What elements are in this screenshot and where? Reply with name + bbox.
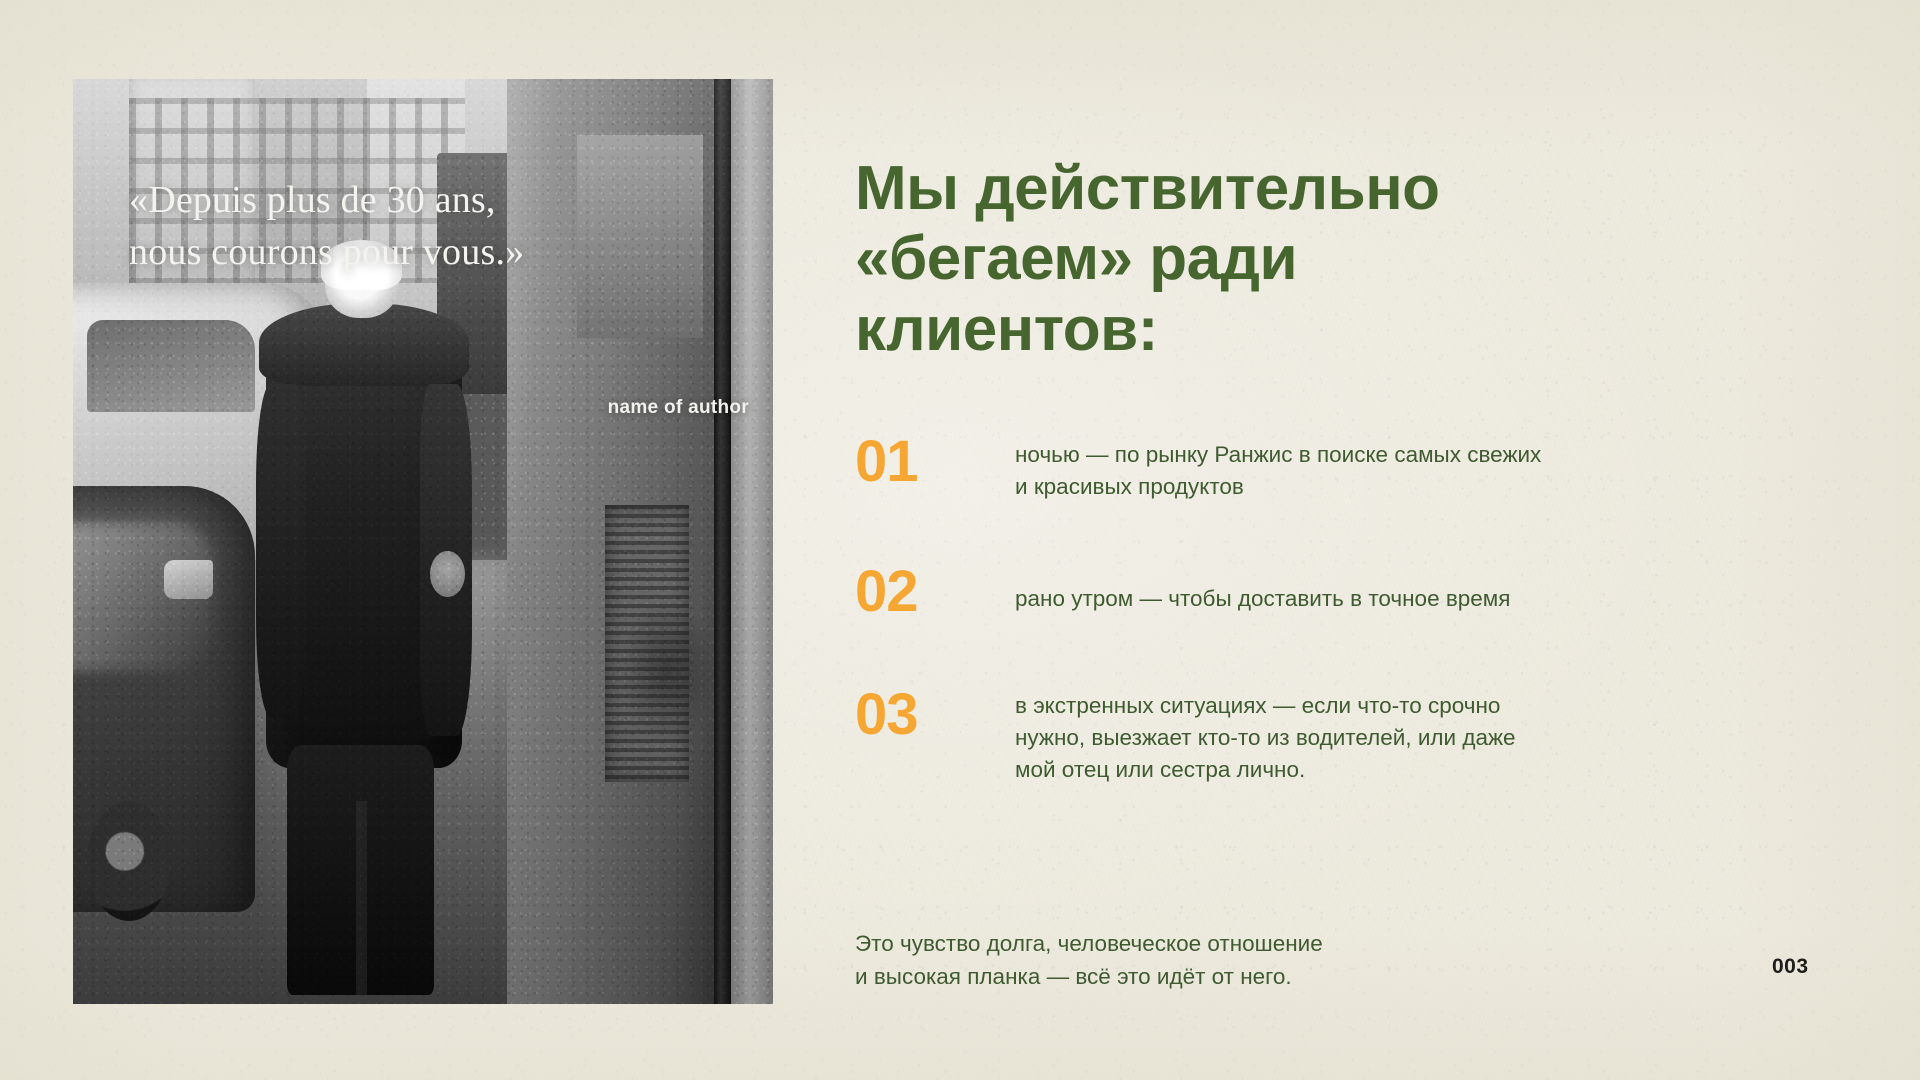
photo-quote-text: «Depuis plus de 30 ans, nous courons pou… [129, 174, 749, 279]
photo-car-mirror [164, 560, 213, 599]
list-item-text: ночью — по рынку Ранжис в поиске самых с… [1015, 435, 1755, 503]
photo-man-hand [430, 551, 465, 597]
list-item: 02 рано утром — чтобы доставить в точное… [855, 565, 1755, 618]
list-item-number: 01 [855, 435, 1015, 488]
slide-canvas: «Depuis plus de 30 ans, nous courons pou… [0, 0, 1920, 1080]
list-item: 01 ночью — по рынку Ранжис в поиске самы… [855, 435, 1755, 503]
list-item-text: рано утром — чтобы доставить в точное вр… [1015, 565, 1755, 615]
list-item-number: 02 [855, 565, 1015, 618]
closing-statement: Это чувство долга, человеческое отношени… [855, 928, 1615, 993]
photo-bus-smudge [619, 597, 717, 745]
photo-quote-author: name of author [129, 397, 749, 419]
list-item: 03 в экстренных ситуациях — если что-то … [855, 688, 1755, 786]
page-number: 003 [1772, 955, 1809, 979]
quote-photo-panel: «Depuis plus de 30 ans, nous courons pou… [73, 79, 773, 1004]
photo-man-leg-gap [356, 801, 367, 995]
slide-headline: Мы действительно «бегаем» ради клиентов: [855, 154, 1685, 366]
numbered-list: 01 ночью — по рынку Ранжис в поиске самы… [855, 435, 1755, 786]
photo-car-wheel [87, 801, 171, 921]
list-item-text: в экстренных ситуациях — если что-то сро… [1015, 688, 1755, 786]
photo-man-left-arm [256, 384, 305, 717]
content-column: Мы действительно «бегаем» ради клиентов:… [855, 0, 1855, 1080]
list-item-number: 03 [855, 688, 1015, 741]
